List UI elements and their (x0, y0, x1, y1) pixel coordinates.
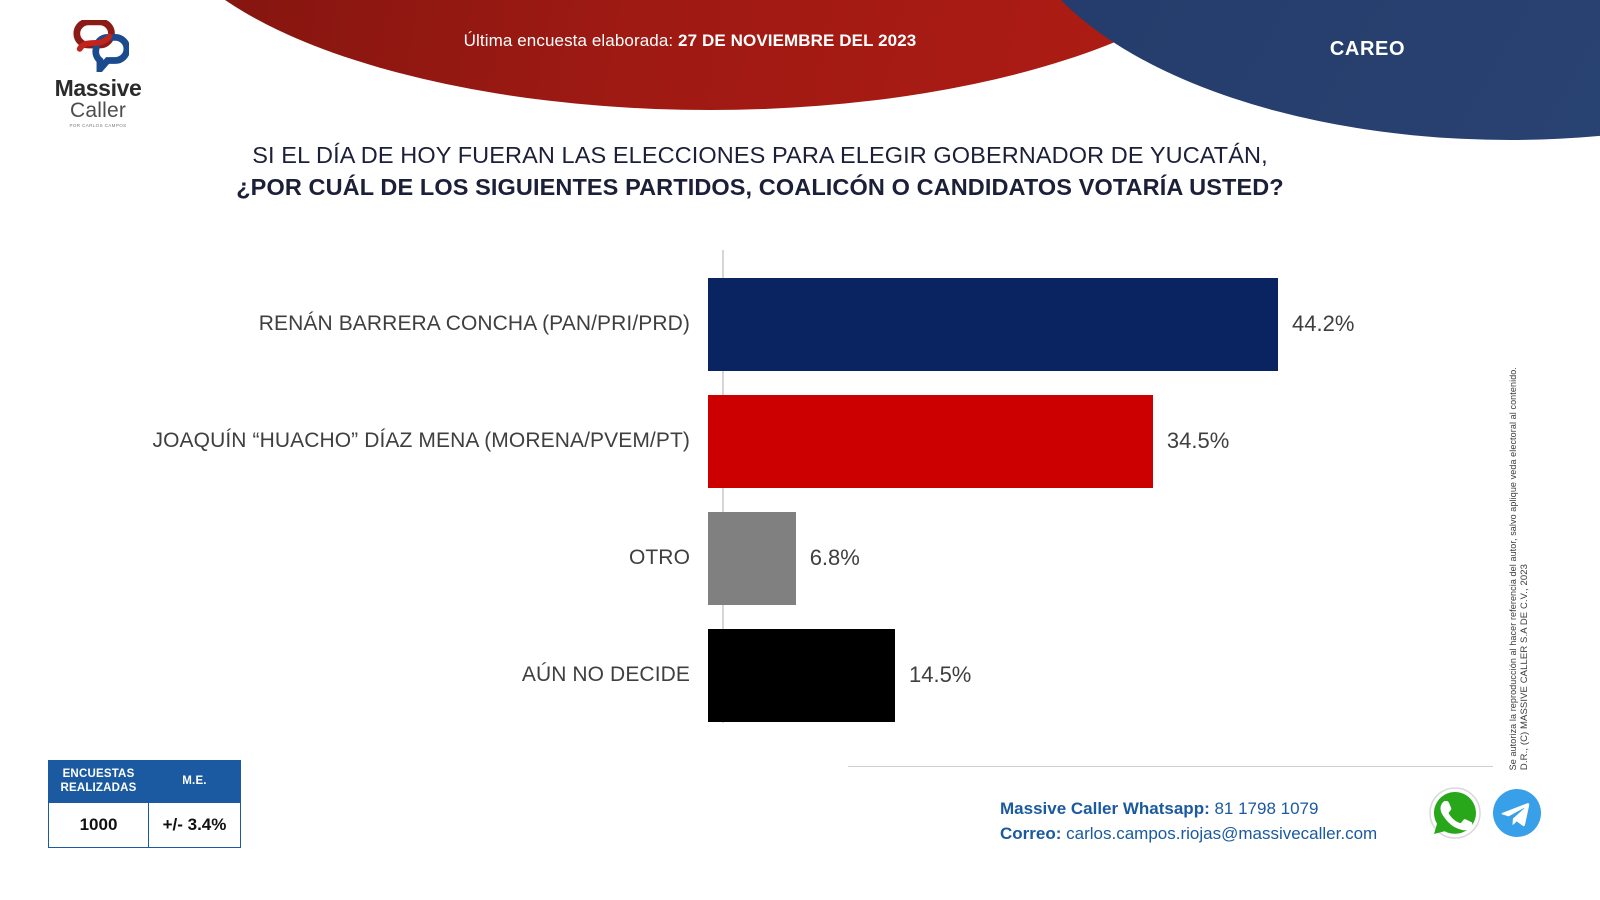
bar-0 (708, 278, 1278, 371)
bar-track-0: 44.2% (706, 274, 1480, 374)
table-header-row: ENCUESTAS REALIZADAS M.E. (49, 761, 241, 803)
social-links (1428, 786, 1542, 840)
bar-label-1: JOAQUÍN “HUACHO” DÍAZ MENA (MORENA/PVEM/… (0, 429, 706, 453)
contact-whatsapp-label: Massive Caller Whatsapp: (1000, 799, 1210, 818)
table-row: 1000 +/- 3.4% (49, 802, 241, 847)
logo-subtitle: POR CARLOS CAMPOS (69, 123, 126, 128)
bar-value-1: 34.5% (1167, 428, 1229, 454)
bar-label-2: OTRO (0, 546, 706, 570)
careo-label: CAREO (1270, 38, 1465, 61)
bar-3 (708, 629, 895, 722)
question-title-line1: SI EL DÍA DE HOY FUERAN LAS ELECCIONES P… (60, 140, 1460, 172)
logo-name-top: Massive (55, 76, 142, 100)
header-banner (0, 0, 1600, 150)
bar-value-0: 44.2% (1292, 311, 1354, 337)
whatsapp-icon[interactable] (1428, 786, 1482, 840)
copyright-notice: Se autoriza la reproducción al hacer ref… (1508, 170, 1548, 770)
survey-date-prefix: Última encuesta elaborada: (464, 31, 678, 50)
bar-label-3: AÚN NO DECIDE (0, 663, 706, 687)
survey-date: Última encuesta elaborada: 27 DE NOVIEMB… (320, 31, 1060, 51)
bar-label-0: RENÁN BARRERA CONCHA (PAN/PRI/PRD) (0, 312, 706, 336)
value-encuestas-realizadas: 1000 (49, 802, 149, 847)
header-encuestas-line1: ENCUESTAS (63, 768, 135, 780)
contact-email-label: Correo: (1000, 824, 1061, 843)
telegram-icon[interactable] (1492, 788, 1542, 838)
chart-row-2: OTRO 6.8% (0, 508, 1480, 608)
value-margin-of-error: +/- 3.4% (149, 802, 241, 847)
bar-track-1: 34.5% (706, 391, 1480, 491)
massive-caller-logo-icon (67, 20, 129, 72)
logo-name-bottom: Caller (70, 100, 126, 121)
bar-track-3: 14.5% (706, 625, 1480, 725)
copyright-owner-text: D.R., (C) MASSIVE CALLER S.A DE C.V., 20… (1519, 564, 1530, 770)
header-margin-of-error: M.E. (149, 761, 241, 803)
chart-row-0: RENÁN BARRERA CONCHA (PAN/PRI/PRD) 44.2% (0, 274, 1480, 374)
contact-whatsapp-line: Massive Caller Whatsapp: 81 1798 1079 (1000, 797, 1377, 822)
contact-block: Massive Caller Whatsapp: 81 1798 1079 Co… (1000, 797, 1377, 846)
question-title: SI EL DÍA DE HOY FUERAN LAS ELECCIONES P… (60, 140, 1460, 203)
chart-row-3: AÚN NO DECIDE 14.5% (0, 625, 1480, 725)
bar-track-2: 6.8% (706, 508, 1480, 608)
bar-1 (708, 395, 1153, 488)
chart-row-1: JOAQUÍN “HUACHO” DÍAZ MENA (MORENA/PVEM/… (0, 391, 1480, 491)
copyright-usage-text: Se autoriza la reproducción al hacer ref… (1508, 367, 1518, 770)
bar-value-2: 6.8% (810, 545, 860, 571)
header-encuestas-realizadas: ENCUESTAS REALIZADAS (49, 761, 149, 803)
brand-logo: Massive Caller POR CARLOS CAMPOS (38, 8, 158, 130)
results-bar-chart: RENÁN BARRERA CONCHA (PAN/PRI/PRD) 44.2%… (0, 250, 1480, 725)
bar-value-3: 14.5% (909, 662, 971, 688)
contact-whatsapp-value: 81 1798 1079 (1210, 799, 1319, 818)
poll-slide: Última encuesta elaborada: 27 DE NOVIEMB… (0, 0, 1600, 900)
contact-email-line: Correo: carlos.campos.riojas@massivecall… (1000, 822, 1377, 847)
header-blue-shape (1010, 0, 1600, 140)
question-title-line2: ¿POR CUÁL DE LOS SIGUIENTES PARTIDOS, CO… (60, 172, 1460, 204)
header-encuestas-line2: REALIZADAS (60, 782, 136, 794)
contact-email-value: carlos.campos.riojas@massivecaller.com (1061, 824, 1377, 843)
survey-date-value: 27 DE NOVIEMBRE DEL 2023 (678, 31, 916, 50)
footer-divider (848, 766, 1493, 767)
sample-stats-table: ENCUESTAS REALIZADAS M.E. 1000 +/- 3.4% (48, 760, 241, 848)
bar-2 (708, 512, 796, 605)
